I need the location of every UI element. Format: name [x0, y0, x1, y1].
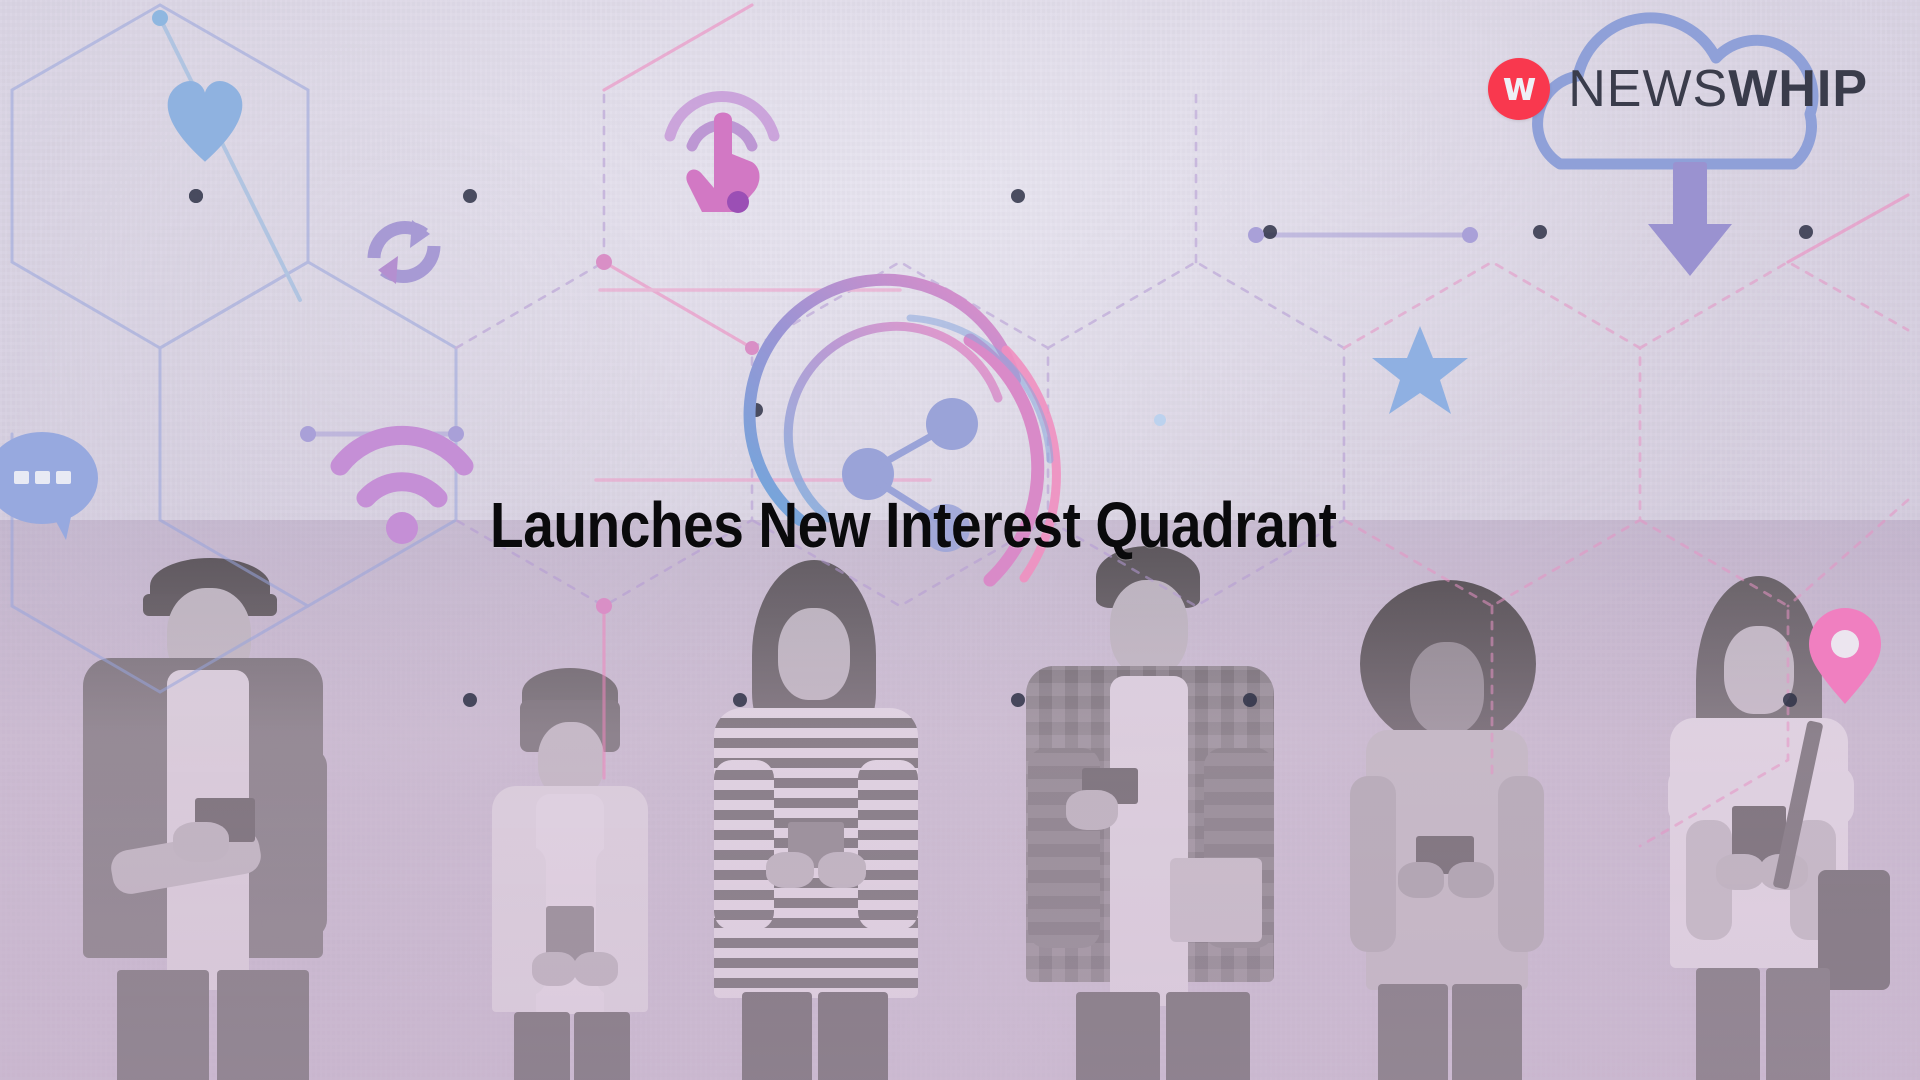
person-woman-bag [1640, 570, 1890, 1080]
newswhip-wordmark: NEWSWHIP [1568, 63, 1868, 115]
wordmark-news: NEWS [1568, 60, 1728, 118]
wordmark-whip: WHIP [1728, 60, 1868, 118]
promo-banner: Launches New Interest Quadrant w NEWSWHI… [0, 0, 1920, 1080]
person-woman-beanie [470, 660, 670, 1080]
person-woman-afro [1330, 580, 1560, 1080]
logo-mark-letter: w [1503, 67, 1536, 107]
newswhip-logo[interactable]: w NEWSWHIP [1488, 58, 1868, 120]
newswhip-logo-mark-icon: w [1488, 58, 1550, 120]
cloud-download-icon [1538, 18, 1813, 276]
person-man-cap [55, 540, 355, 1080]
heart-icon [168, 81, 243, 162]
page-title: Launches New Interest Quadrant [490, 488, 1337, 562]
people-photo-band [0, 520, 1920, 1080]
refresh-icon [374, 220, 434, 284]
person-woman-stripes [700, 560, 930, 1080]
person-man-plaid [1010, 540, 1290, 1080]
star-icon [1372, 326, 1468, 414]
tap-gesture-icon [670, 97, 774, 213]
